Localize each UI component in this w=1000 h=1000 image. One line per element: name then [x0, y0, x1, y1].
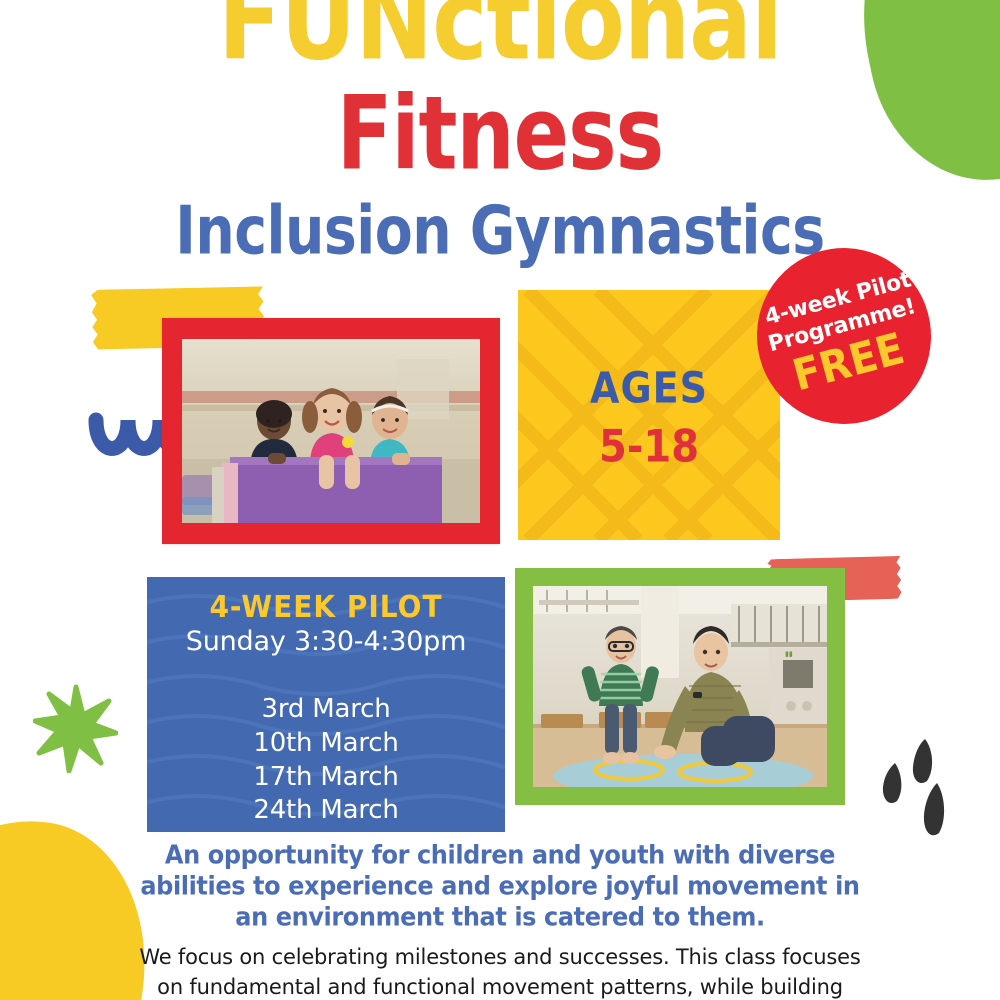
lead-line: abilities to experience and explore joyf… — [0, 870, 1000, 903]
poster-canvas: FUNctional Fitness Inclusion Gymnastics — [0, 0, 1000, 1000]
ages-text-group: AGES 5-18 — [518, 290, 780, 540]
schedule-date: 24th March — [147, 794, 505, 828]
body-line: on fundamental and functional movement p… — [0, 972, 1000, 1000]
svg-text:▮▮: ▮▮ — [785, 651, 793, 658]
headline-line-functional: FUNctional — [10, 0, 990, 73]
schedule-title: 4-WEEK PILOT — [147, 589, 505, 625]
schedule-time: Sunday 3:30-4:30pm — [147, 626, 505, 657]
headline-line-fitness: Fitness — [20, 87, 980, 184]
green-star-splat — [33, 683, 118, 773]
photo-children-gymnastics — [182, 339, 480, 523]
schedule-date: 10th March — [147, 727, 505, 761]
body-line: We focus on celebrating milestones and s… — [0, 942, 1000, 972]
schedule-box: 4-WEEK PILOT Sunday 3:30-4:30pm 3rd Marc… — [147, 577, 505, 832]
schedule-date: 3rd March — [147, 693, 505, 727]
photo-frame-children-gymnastics — [162, 318, 500, 544]
photo-instructor-child: ▮▮ — [533, 586, 827, 787]
schedule-date-list: 3rd March 10th March 17th March 24th Mar… — [147, 693, 505, 828]
photo-frame-instructor-child: ▮▮ — [515, 568, 845, 805]
schedule-content: 4-WEEK PILOT Sunday 3:30-4:30pm 3rd Marc… — [147, 577, 505, 828]
ages-label: AGES — [590, 363, 708, 412]
description-block: An opportunity for children and youth wi… — [0, 840, 1000, 1000]
schedule-date: 17th March — [147, 761, 505, 795]
body-block: We focus on celebrating milestones and s… — [0, 942, 1000, 1000]
lead-line: an environment that is catered to them. — [0, 901, 1000, 934]
headline-group: FUNctional Fitness Inclusion Gymnastics — [0, 0, 1000, 255]
dark-raindrop-marks — [875, 735, 960, 840]
ages-range: 5-18 — [599, 421, 699, 473]
ages-box: AGES 5-18 — [518, 290, 780, 540]
lead-line: An opportunity for children and youth wi… — [0, 839, 1000, 872]
